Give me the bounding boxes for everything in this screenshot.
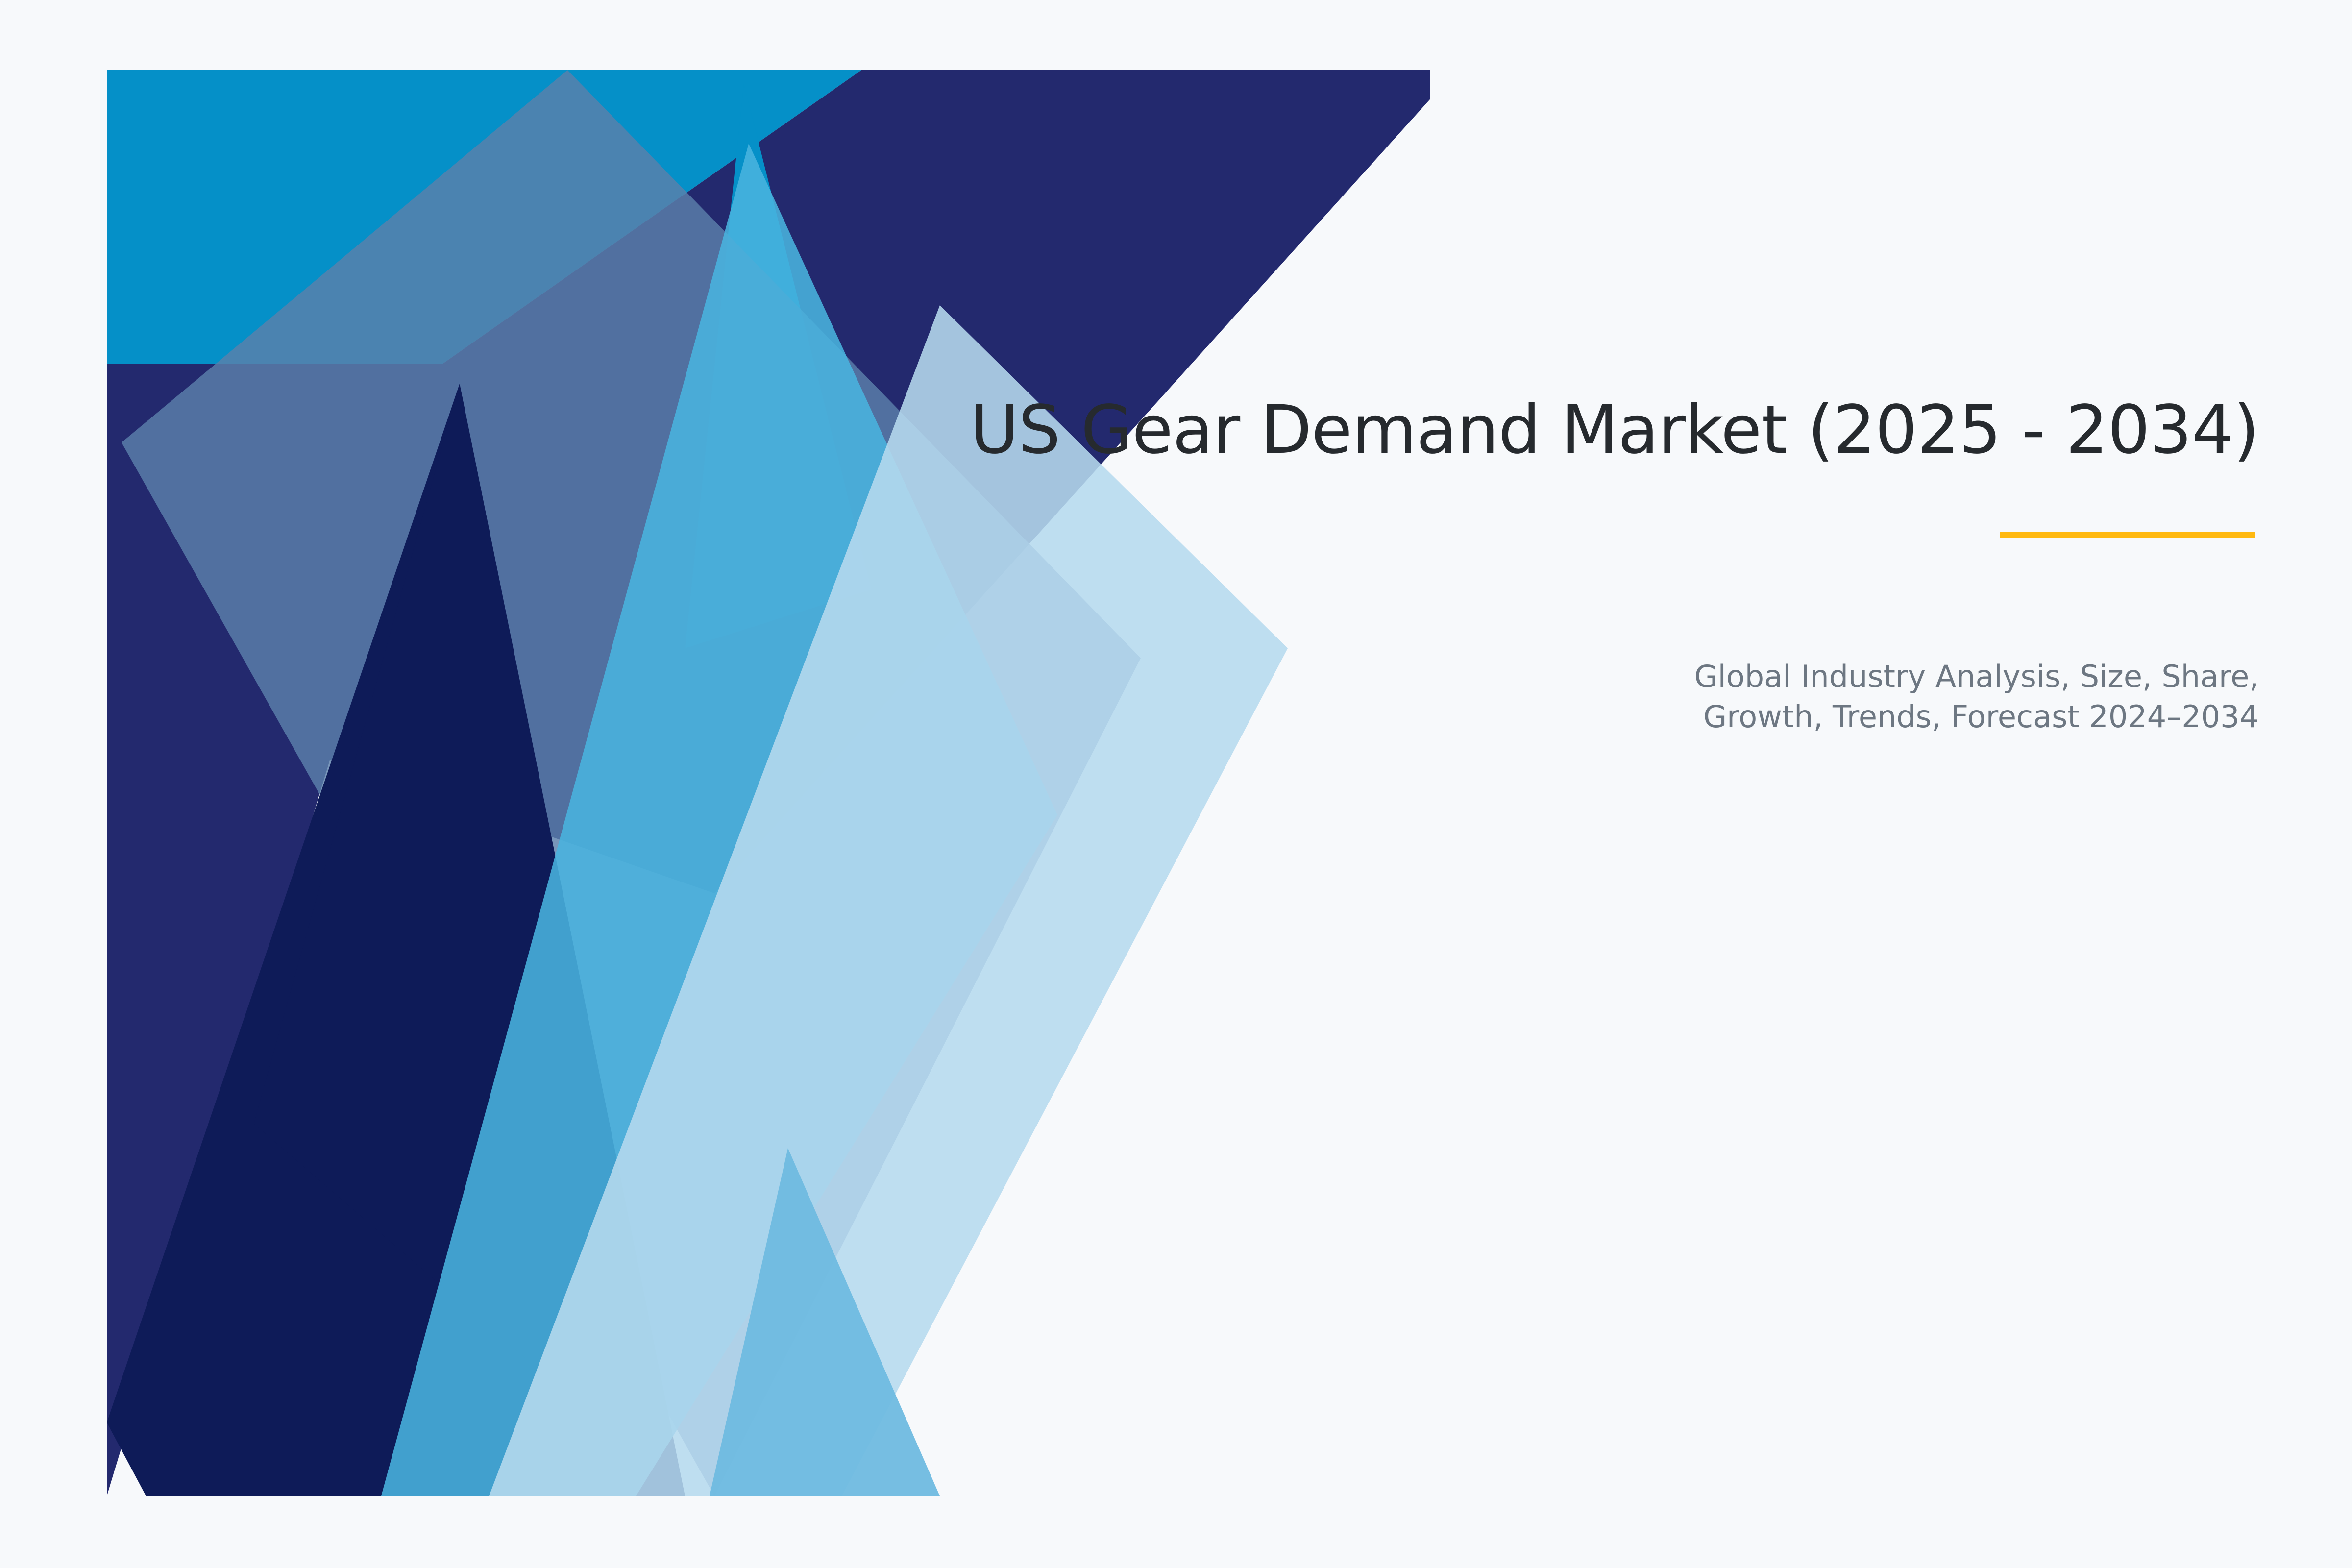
cover-artwork bbox=[107, 70, 1430, 1496]
report-cover-page: US Gear Demand Market (2025 - 2034) Glob… bbox=[0, 0, 2352, 1568]
abstract-polygon-collage-svg bbox=[107, 70, 1430, 1496]
artwork-shape-group bbox=[107, 70, 1430, 1496]
page-subtitle: Global Industry Analysis, Size, Share, G… bbox=[1588, 657, 2259, 737]
accent-rule-divider bbox=[2000, 532, 2255, 538]
